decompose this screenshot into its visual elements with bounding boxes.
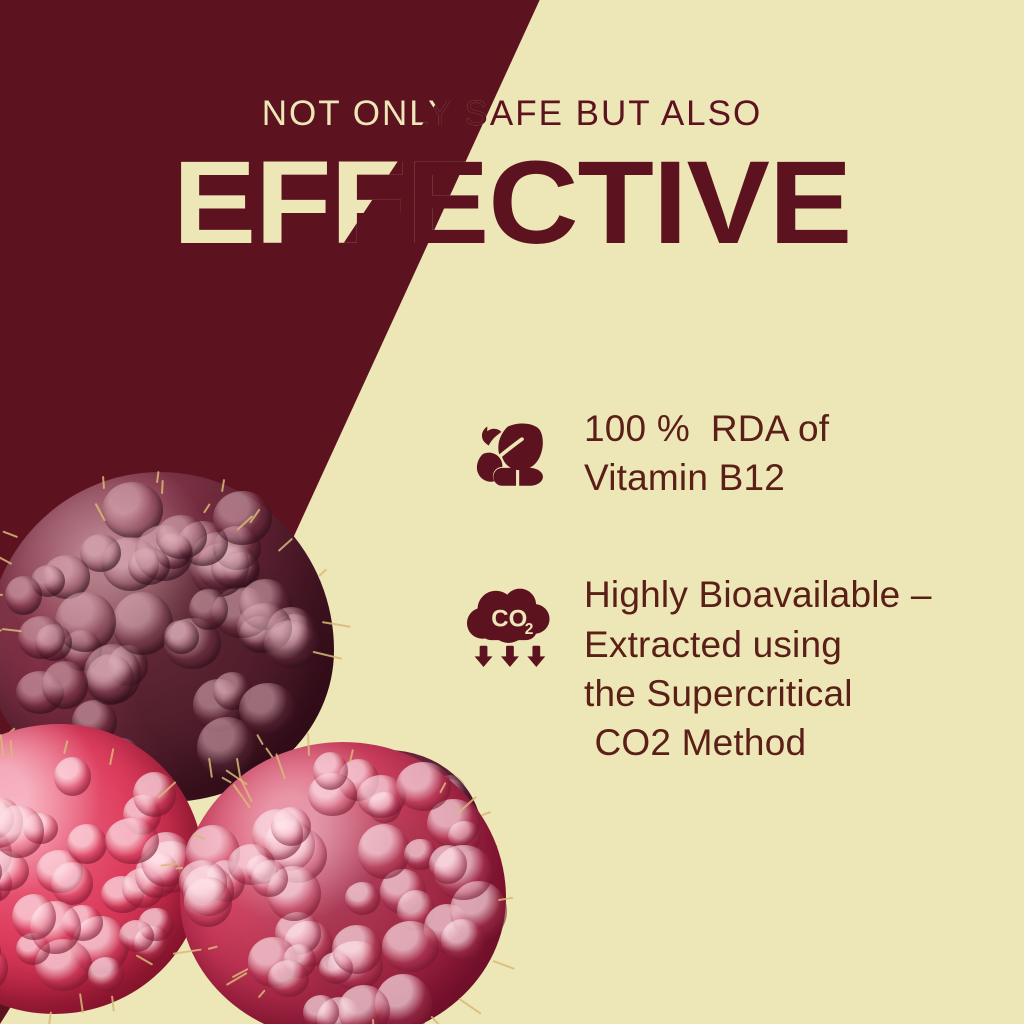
berry-drupelet bbox=[54, 757, 91, 797]
berry-drupelet bbox=[42, 661, 88, 708]
berry-drupelet bbox=[237, 603, 292, 653]
berry-hair bbox=[2, 628, 22, 632]
berry-drupelet bbox=[55, 592, 116, 652]
berry-drupelet bbox=[112, 592, 173, 655]
berry-drupelet bbox=[375, 974, 432, 1024]
berry-drupelet bbox=[212, 587, 271, 638]
berry-drupelet bbox=[357, 775, 406, 818]
berry-drupelet bbox=[404, 839, 436, 871]
berry-drupelet bbox=[62, 630, 102, 671]
berry-hair bbox=[321, 621, 350, 628]
berry-drupelet bbox=[382, 921, 439, 972]
berry-hair bbox=[307, 733, 310, 756]
berry-drupelet bbox=[164, 618, 221, 669]
berry-drupelet bbox=[16, 671, 64, 715]
co2-cloud-icon: CO 2 bbox=[462, 570, 558, 676]
berry-drupelet bbox=[156, 515, 207, 559]
berry-hair bbox=[63, 740, 68, 754]
berry-drupelet bbox=[0, 799, 14, 839]
berry-drupelet bbox=[105, 818, 158, 864]
berry-drupelet bbox=[424, 904, 470, 953]
berry-drupelet bbox=[128, 547, 170, 585]
berry-drupelet bbox=[193, 679, 243, 732]
berry-hair bbox=[0, 734, 4, 756]
feature-line: Highly Bioavailable – bbox=[584, 570, 932, 619]
berry-drupelet bbox=[0, 871, 2, 913]
berry-hair bbox=[192, 833, 205, 840]
feature-line: Vitamin B12 bbox=[584, 453, 829, 502]
berry-hair bbox=[480, 810, 491, 815]
berry-hair bbox=[47, 1011, 52, 1024]
berry-drupelet bbox=[345, 882, 381, 914]
berry-drupelet bbox=[264, 620, 320, 668]
berry-drupelet bbox=[264, 819, 315, 871]
berry-drupelet bbox=[275, 912, 321, 954]
berry-drupelet bbox=[251, 860, 288, 897]
berry-drupelet bbox=[80, 534, 121, 571]
berry-drupelet bbox=[338, 759, 379, 801]
berry-hair bbox=[497, 897, 512, 901]
berry-drupelet bbox=[0, 797, 23, 848]
berry-drupelet bbox=[189, 589, 227, 630]
berry-drupelet bbox=[448, 821, 481, 852]
berry-drupelet bbox=[0, 943, 8, 994]
berry-drupelet bbox=[184, 877, 233, 927]
berry-drupelet bbox=[267, 607, 317, 654]
feature-item-co2: CO 2 Highly Bioav bbox=[462, 570, 982, 767]
berry-drupelet bbox=[271, 614, 317, 656]
berry-drupelet bbox=[197, 543, 245, 590]
feature-line: Extracted using bbox=[584, 620, 932, 669]
berry-drupelet bbox=[35, 624, 72, 661]
berry-drupelet bbox=[133, 772, 176, 817]
seed-leaf-icon bbox=[462, 404, 558, 502]
berry-drupelet bbox=[0, 805, 44, 858]
berry-drupelet bbox=[62, 905, 103, 941]
berry-hair bbox=[372, 1018, 375, 1024]
svg-text:2: 2 bbox=[525, 621, 534, 638]
berry-drupelet bbox=[183, 865, 234, 916]
berry-drupelet bbox=[43, 555, 90, 598]
berry-hair bbox=[109, 749, 114, 766]
berry-drupelet bbox=[86, 654, 134, 705]
berry-hair bbox=[208, 758, 213, 779]
berry-hair bbox=[111, 996, 115, 1012]
berry-drupelet bbox=[267, 866, 321, 921]
berry-drupelet bbox=[211, 545, 259, 589]
berry-drupelet bbox=[135, 525, 193, 581]
berry-drupelet bbox=[122, 868, 163, 908]
raspberry-cluster-photo bbox=[0, 424, 520, 1024]
berry-drupelet bbox=[284, 921, 333, 967]
berry-drupelet bbox=[213, 491, 272, 545]
berry-hair bbox=[136, 954, 154, 965]
berry-hair bbox=[221, 479, 225, 492]
berry-hair bbox=[102, 476, 105, 489]
berry-drupelet bbox=[313, 752, 349, 790]
berry-drupelet bbox=[271, 807, 311, 847]
berry-drupelet bbox=[328, 941, 382, 990]
berry-hair bbox=[156, 471, 160, 483]
svg-text:CO: CO bbox=[491, 606, 527, 633]
berry-hair bbox=[458, 998, 481, 1015]
berry-drupelet bbox=[12, 894, 56, 940]
berry-drupelet bbox=[16, 933, 50, 965]
berry-drupelet bbox=[135, 851, 179, 898]
berry-drupelet bbox=[0, 934, 1, 968]
berry-drupelet bbox=[358, 824, 411, 879]
berry-drupelet bbox=[332, 925, 383, 975]
berry-drupelet bbox=[239, 579, 292, 631]
berry-hair bbox=[439, 782, 446, 794]
berry-drupelet bbox=[308, 773, 356, 816]
berry-drupelet bbox=[84, 644, 141, 704]
berry-drupelet bbox=[248, 937, 298, 986]
berry-drupelet bbox=[35, 939, 92, 991]
berry-hair bbox=[203, 504, 211, 514]
berry-hair bbox=[349, 749, 354, 762]
berry-drupelet bbox=[23, 813, 58, 844]
berry-hair bbox=[258, 990, 266, 999]
berry-hair bbox=[456, 796, 477, 815]
berry-drupelet bbox=[239, 683, 297, 737]
berry-drupelet bbox=[67, 824, 107, 864]
berry-drupelet bbox=[450, 881, 507, 941]
promo-graphic: NOT ONLY SAFE BUT ALSO EFFECTIVE NOT ONL… bbox=[0, 0, 1024, 1024]
berry-hair bbox=[95, 503, 106, 522]
berry-drupelet bbox=[268, 827, 327, 883]
berry-drupelet bbox=[397, 890, 435, 930]
feature-line: CO2 Method bbox=[584, 718, 932, 767]
berry-hair bbox=[2, 531, 18, 539]
berry-drupelet bbox=[213, 672, 252, 710]
berry-drupelet bbox=[441, 919, 483, 961]
feature-text-co2: Highly Bioavailable – Extracted using th… bbox=[584, 570, 932, 767]
berry-drupelet bbox=[228, 844, 275, 885]
berry-drupelet bbox=[88, 957, 124, 992]
berry-drupelet bbox=[36, 850, 82, 894]
berry-hair bbox=[275, 753, 286, 779]
berry-drupelet bbox=[30, 901, 81, 955]
berry-drupelet bbox=[427, 799, 480, 849]
berry-drupelet bbox=[102, 482, 163, 538]
feature-item-vitamin: 100 % RDA of Vitamin B12 bbox=[462, 404, 982, 502]
berry-hair bbox=[313, 650, 342, 659]
berry-drupelet bbox=[123, 795, 161, 835]
berry-drupelet bbox=[164, 620, 199, 654]
berry-drupelet bbox=[338, 985, 390, 1024]
berry-hair bbox=[0, 629, 2, 633]
berry-drupelet bbox=[268, 960, 310, 997]
berry-drupelet bbox=[283, 944, 316, 978]
berry-drupelet bbox=[239, 616, 282, 653]
berry-drupelet bbox=[102, 537, 159, 591]
berry-drupelet bbox=[0, 856, 2, 888]
berry-hair bbox=[79, 993, 84, 1013]
berry-drupelet bbox=[189, 532, 249, 597]
berry-drupelet bbox=[155, 533, 192, 569]
berry-drupelet bbox=[303, 995, 339, 1024]
berry-hair bbox=[493, 960, 515, 970]
feature-list: 100 % RDA of Vitamin B12 CO bbox=[462, 404, 982, 767]
berry-drupelet bbox=[252, 809, 303, 860]
berry-drupelet bbox=[380, 869, 426, 915]
berry-hair bbox=[207, 945, 218, 950]
berry-drupelet bbox=[206, 860, 245, 903]
berry-drupelet bbox=[18, 616, 65, 659]
berry-drupelet bbox=[108, 645, 148, 686]
feature-line: the Supercritical bbox=[584, 669, 932, 718]
berry-drupelet bbox=[319, 952, 353, 984]
berry-hair bbox=[157, 781, 176, 799]
berry-hair bbox=[257, 733, 265, 745]
berry-hair bbox=[277, 538, 293, 553]
berry-drupelet bbox=[0, 865, 12, 902]
berry-drupelet bbox=[0, 828, 12, 881]
berry-drupelet bbox=[224, 552, 261, 589]
berry-drupelet bbox=[179, 860, 228, 903]
berry-drupelet bbox=[51, 862, 93, 905]
berry-hair bbox=[318, 568, 327, 576]
berry-hair bbox=[431, 1016, 452, 1024]
berry-drupelet bbox=[434, 845, 493, 901]
berry-hair bbox=[9, 740, 12, 759]
feature-text-vitamin: 100 % RDA of Vitamin B12 bbox=[584, 404, 829, 502]
berry-drupelet bbox=[138, 908, 173, 941]
berry-hair bbox=[161, 480, 164, 494]
berry-drupelet bbox=[31, 565, 65, 597]
berry-drupelet bbox=[213, 526, 261, 571]
berry-drupelet bbox=[368, 792, 401, 823]
berry-drupelet bbox=[72, 916, 129, 976]
berry-drupelet bbox=[429, 845, 467, 884]
berry-drupelet bbox=[317, 997, 363, 1024]
berry-hair bbox=[0, 551, 12, 566]
berry-drupelet bbox=[5, 576, 42, 616]
feature-line: 100 % RDA of bbox=[584, 404, 829, 453]
berry-hair bbox=[236, 758, 241, 778]
berry-drupelet bbox=[101, 876, 143, 913]
berry-drupelet bbox=[178, 521, 228, 566]
berry-hair bbox=[0, 594, 3, 596]
berry-drupelet bbox=[246, 855, 279, 884]
berry-drupelet bbox=[0, 851, 29, 892]
berry-drupelet bbox=[119, 920, 154, 953]
